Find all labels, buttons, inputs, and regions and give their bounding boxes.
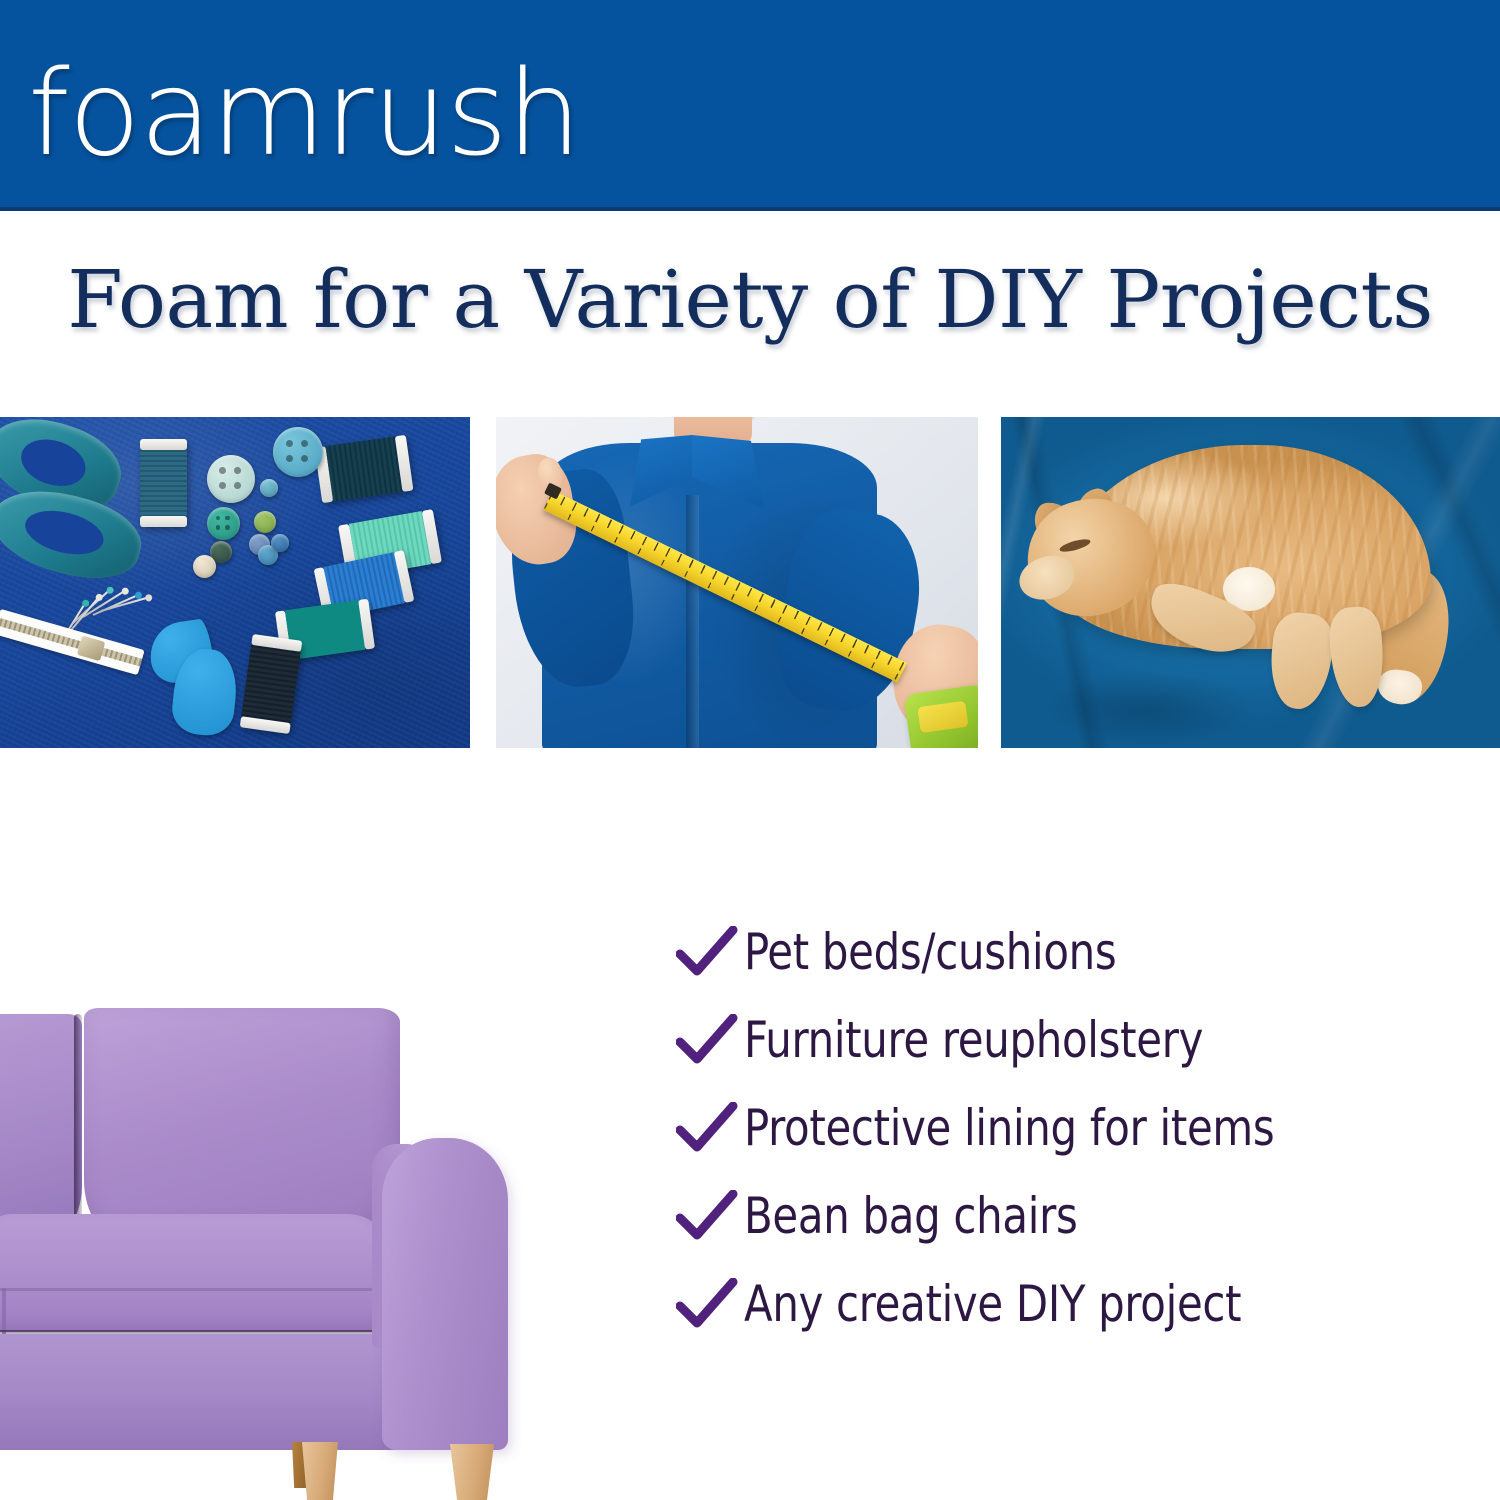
list-item-label: Bean bag chairs <box>744 1188 1078 1244</box>
sofa-leg-middle <box>302 1442 338 1500</box>
feature-list: Pet beds/cushions Furniture reupholstery… <box>676 908 1476 1348</box>
list-item: Any creative DIY project <box>676 1260 1476 1348</box>
sofa-leg-front <box>450 1444 494 1500</box>
button-pale-teal-large <box>207 455 255 503</box>
list-item: Pet beds/cushions <box>676 908 1476 996</box>
button-olive-green <box>254 511 276 533</box>
sofa-seat-welt-line <box>0 1288 402 1291</box>
button-light-blue-small <box>260 479 278 497</box>
check-icon <box>676 1190 744 1242</box>
check-icon <box>676 926 744 978</box>
check-icon <box>676 1102 744 1154</box>
cat-on-beanbag-photo <box>1001 417 1500 748</box>
sofa-base-skirt <box>0 1334 402 1450</box>
button-royal-blue <box>271 534 289 552</box>
sewing-supplies-photo <box>0 417 470 748</box>
button-blue-large <box>273 427 323 477</box>
check-icon <box>676 1014 744 1066</box>
tape-measure-photo <box>496 417 978 748</box>
thread-spool-steel-blue <box>140 439 187 527</box>
list-item: Bean bag chairs <box>676 1172 1476 1260</box>
lavender-sofa-illustration <box>0 1000 574 1500</box>
sofa-rolled-arm <box>382 1138 508 1450</box>
brand-banner: foamrush <box>0 0 1500 211</box>
list-item: Furniture reupholstery <box>676 996 1476 1084</box>
list-item: Protective lining for items <box>676 1084 1476 1172</box>
brand-logo[interactable]: foamrush <box>28 54 581 172</box>
list-item-label: Furniture reupholstery <box>744 1012 1203 1068</box>
page-title: Foam for a Variety of DIY Projects <box>0 252 1500 348</box>
sofa-seat-seam <box>2 1288 6 1334</box>
list-item-label: Any creative DIY project <box>744 1276 1241 1332</box>
list-item-label: Protective lining for items <box>744 1100 1274 1156</box>
tape-measure-case <box>904 683 978 748</box>
sofa-seat-cushion <box>0 1214 402 1332</box>
button-cream <box>193 555 216 578</box>
shirt-placket <box>686 495 699 748</box>
list-item-label: Pet beds/cushions <box>744 924 1116 980</box>
zipper-pull <box>77 635 106 661</box>
button-green-teal <box>207 507 240 540</box>
photo-strip <box>0 417 1500 748</box>
sofa-back-cushion-right <box>84 1008 400 1240</box>
check-icon <box>676 1278 744 1330</box>
sofa-back-cushion-left <box>0 1014 82 1240</box>
